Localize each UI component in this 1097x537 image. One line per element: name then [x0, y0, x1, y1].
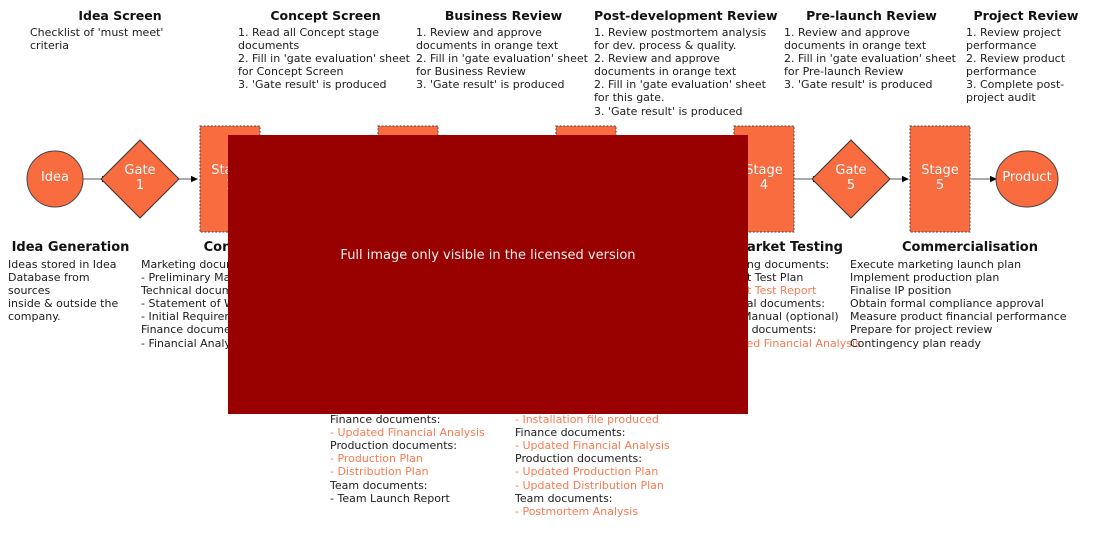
document-line: Finance documents:	[515, 426, 730, 439]
diagram-canvas: Idea Screen Checklist of 'must meet' cri…	[0, 0, 1097, 537]
document-list-stage-5: - User Help files - Installation file pr…	[515, 400, 730, 518]
gate-line: project audit	[966, 91, 1086, 104]
overlay-message: Full image only visible in the licensed …	[340, 248, 635, 263]
gate-body: 1. Review project performance 2. Review …	[966, 26, 1086, 105]
stage-line: Obtain formal compliance approval	[850, 297, 1090, 310]
gate-line: 1. Review and approve	[784, 26, 959, 39]
gate-body: 1. Read all Concept stage documents 2. F…	[238, 26, 413, 91]
gate-description-pre-launch-review: Pre-launch Review 1. Review and approve …	[784, 8, 959, 91]
gate-title: Project Review	[966, 8, 1086, 23]
gate-title: Concept Screen	[238, 8, 413, 23]
gate-line: documents	[238, 39, 413, 52]
gate-title: Pre-launch Review	[784, 8, 959, 23]
gate-line: 1. Review and approve	[416, 26, 591, 39]
flow-node-product	[996, 151, 1058, 207]
gate-title: Idea Screen	[30, 8, 210, 23]
stage-line: inside & outside the	[8, 297, 133, 310]
gate-description-business-review: Business Review 1. Review and approve do…	[416, 8, 591, 91]
gate-line: documents in orange text	[784, 39, 959, 52]
gate-description-post-development-review: Post-development Review 1. Review postmo…	[594, 8, 774, 118]
stage-line: Database from sources	[8, 271, 133, 297]
stage-description-commercialisation: Commercialisation Execute marketing laun…	[850, 240, 1090, 350]
gate-line: 2. Fill in 'gate evaluation' sheet	[238, 52, 413, 65]
gate-body: 1. Review and approve documents in orang…	[784, 26, 959, 91]
gate-line: documents in orange text	[594, 65, 774, 78]
stage-line: Contingency plan ready	[850, 337, 1090, 350]
stage-line: Finalise IP position	[850, 284, 1090, 297]
gate-line: for Business Review	[416, 65, 591, 78]
gate-line: 3. 'Gate result' is produced	[594, 105, 774, 118]
gate-line: for dev. process & quality.	[594, 39, 774, 52]
gate-line: 3. Complete post-	[966, 78, 1086, 91]
licensed-version-overlay: Full image only visible in the licensed …	[228, 135, 748, 414]
stage-body: Ideas stored in Idea Database from sourc…	[8, 258, 133, 323]
document-line: - Updated Financial Analysis	[330, 426, 530, 439]
document-list-body: - User Help files - Installation file pr…	[515, 400, 730, 518]
gate-title: Business Review	[416, 8, 591, 23]
gate-line: 2. Review and approve	[594, 52, 774, 65]
gate-line: 3. 'Gate result' is produced	[416, 78, 591, 91]
flow-node-gate-5	[812, 140, 890, 218]
flow-node-stage-5	[910, 126, 970, 232]
gate-line: performance	[966, 65, 1086, 78]
gate-title: Post-development Review	[594, 8, 774, 23]
gate-line: 2. Fill in 'gate evaluation' sheet	[416, 52, 591, 65]
document-line: - Installation file produced	[515, 413, 730, 426]
document-line: Production documents:	[515, 452, 730, 465]
gate-line: 2. Review product	[966, 52, 1086, 65]
document-line: Team documents:	[330, 479, 530, 492]
document-line: - Updated Production Plan	[515, 465, 730, 478]
stage-title: Commercialisation	[850, 240, 1090, 256]
gate-description-idea-screen: Idea Screen Checklist of 'must meet' cri…	[30, 8, 210, 52]
document-line: - Distribution Plan	[330, 465, 530, 478]
gate-description-concept-screen: Concept Screen 1. Read all Concept stage…	[238, 8, 413, 91]
gate-line: 3. 'Gate result' is produced	[784, 78, 959, 91]
gate-line: 3. 'Gate result' is produced	[238, 78, 413, 91]
document-line: Finance documents:	[330, 413, 530, 426]
stage-line: company.	[8, 310, 133, 323]
gate-line: criteria	[30, 39, 210, 52]
stage-line: Prepare for project review	[850, 323, 1090, 336]
document-line: - Postmortem Analysis	[515, 505, 730, 518]
gate-body: Checklist of 'must meet' criteria	[30, 26, 210, 52]
document-list-body: Management Plan) Finance documents: - Up…	[330, 400, 530, 505]
document-line: - Team Launch Report	[330, 492, 530, 505]
flow-node-gate-1	[101, 140, 179, 218]
flow-node-idea	[27, 151, 83, 207]
gate-line: 1. Read all Concept stage	[238, 26, 413, 39]
gate-line: 1. Review postmortem analysis	[594, 26, 774, 39]
document-line: Production documents:	[330, 439, 530, 452]
document-line: - Updated Financial Analysis	[515, 439, 730, 452]
gate-line: 1. Review project	[966, 26, 1086, 39]
gate-description-project-review: Project Review 1. Review project perform…	[966, 8, 1086, 105]
stage-description-idea-generation: Idea Generation Ideas stored in Idea Dat…	[8, 240, 133, 323]
gate-line: for Pre-launch Review	[784, 65, 959, 78]
stage-line: Ideas stored in Idea	[8, 258, 133, 271]
gate-line: for Concept Screen	[238, 65, 413, 78]
gate-body: 1. Review postmortem analysis for dev. p…	[594, 26, 774, 118]
gate-line: Checklist of 'must meet'	[30, 26, 210, 39]
gate-line: 2. Fill in 'gate evaluation' sheet	[594, 78, 774, 91]
stage-line: Implement production plan	[850, 271, 1090, 284]
gate-line: performance	[966, 39, 1086, 52]
stage-line: Execute marketing launch plan	[850, 258, 1090, 271]
stage-line: Measure product financial performance	[850, 310, 1090, 323]
document-line: Team documents:	[515, 492, 730, 505]
gate-body: 1. Review and approve documents in orang…	[416, 26, 591, 91]
document-line: - Production Plan	[330, 452, 530, 465]
stage-title: Idea Generation	[8, 240, 133, 256]
gate-line: for this gate.	[594, 91, 774, 104]
gate-line: 2. Fill in 'gate evaluation' sheet	[784, 52, 959, 65]
document-line: - Updated Distribution Plan	[515, 479, 730, 492]
document-list-stage-4: Management Plan) Finance documents: - Up…	[330, 400, 530, 505]
gate-line: documents in orange text	[416, 39, 591, 52]
stage-body: Execute marketing launch plan Implement …	[850, 258, 1090, 350]
